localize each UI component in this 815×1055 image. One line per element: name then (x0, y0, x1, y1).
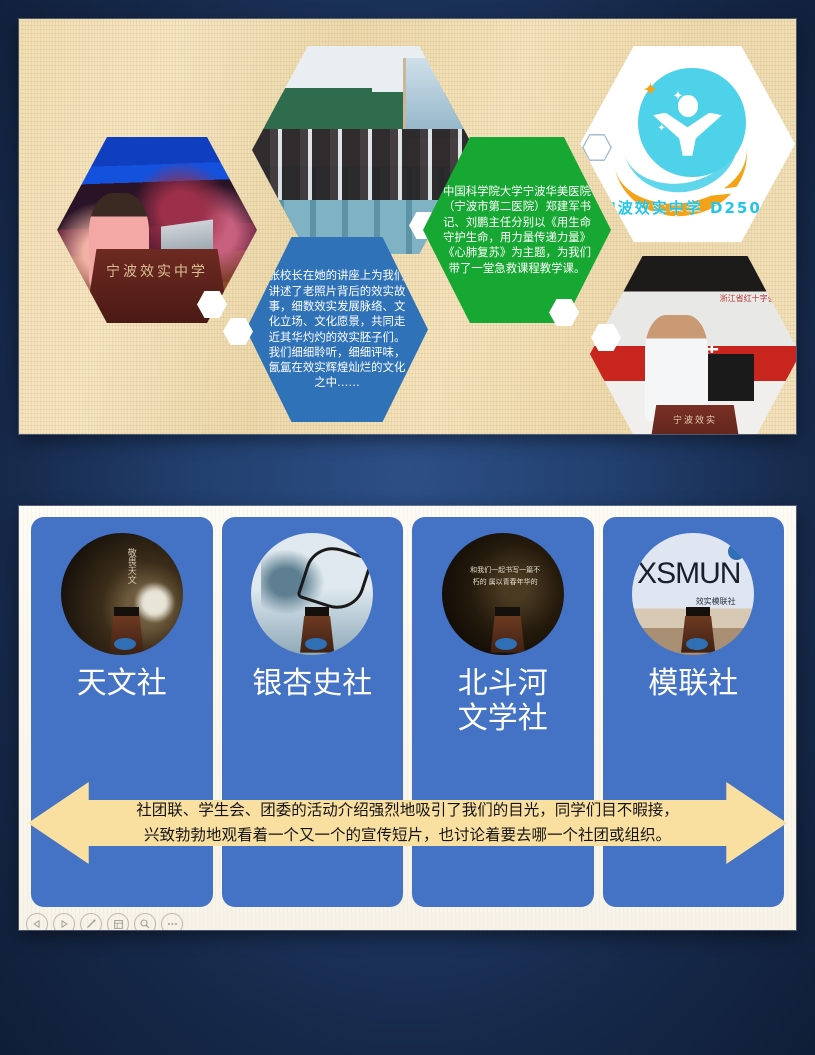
zoom-in-icon[interactable] (134, 913, 156, 930)
mun-sub-text: 效实模联社 (696, 596, 736, 607)
monitor-shape (708, 354, 754, 401)
logo-wave-tail (701, 125, 769, 196)
slide-top-collage[interactable]: 宁波效实中学 张校长在她的讲座上为我们讲述了老照片背后的效实故事，细数效实发展脉… (19, 19, 796, 434)
club-name-label: 银杏史社 (222, 667, 404, 702)
school-logo-hexagon: ✦ ✦ ✦ 宁波效实中学 D2507 (580, 46, 795, 242)
logo-star-icon-1: ✦ (642, 81, 658, 100)
logo-star-icon-2: ✦ (672, 89, 683, 102)
logo-caption-text: 宁波效实中学 D2507 (580, 197, 795, 218)
photo-hexagon-teacher-lecture: 宁波效实中学 (57, 137, 257, 323)
ginkgo-history-club-photo (251, 533, 373, 655)
decor-hexagon-dot-3 (223, 318, 253, 345)
lectern-shape: 宁波效实 (649, 405, 741, 434)
beidou-literature-club-photo: 和我们一起书写一篇不朽的 属以青春年华的 (442, 533, 564, 655)
arrow-banner-line-2: 兴致勃勃地观看着一个又一个的宣传短片，也讨论着要去哪一个社团或组织。 (100, 823, 715, 848)
blackboard-shape (265, 88, 372, 130)
podium-school-text: 宁波效实中学 (85, 261, 229, 281)
previous-slide-icon[interactable] (26, 913, 48, 930)
photo-caption-text: 和我们一起书写一篇不朽的 属以青春年华的 (469, 565, 542, 589)
text-hexagon-blue-principal-lecture: 张校长在她的讲座上为我们讲述了老照片背后的效实故事，细数效实发展脉络、文化立场、… (246, 237, 428, 422)
astronomy-club-photo: 敬畏天文 (61, 533, 183, 655)
photo-hexagon-cpr-speaker: 浙江省红十字会应急 肺复苏 宁波效实 (590, 256, 796, 434)
logo-star-icon-3: ✦ (657, 124, 665, 134)
pen-tool-icon[interactable] (80, 913, 102, 930)
club-name-label: 模联社 (603, 667, 785, 702)
slide-bottom-clubs[interactable]: 敬畏天文 天文社 银杏史社 和我们一起书写一篇不朽的 属以青春年华的 (19, 506, 796, 930)
summary-arrow-banner: 社团联、学生会、团委的活动介绍强烈地吸引了我们的目光，同学们目不暇接， 兴致勃勃… (28, 782, 787, 864)
podium-emblem (305, 638, 327, 650)
all-slides-grid-icon[interactable] (107, 913, 129, 930)
photo-corner-text: 浙江省红十字会应急 (720, 293, 792, 304)
lectern-text: 宁波效实 (649, 413, 741, 426)
moon-shape (134, 582, 175, 623)
next-slide-icon[interactable] (53, 913, 75, 930)
photo-caption-vertical: 敬畏天文 (124, 548, 138, 584)
club-name-label: 天文社 (31, 667, 213, 702)
speaker-figure (645, 315, 708, 421)
more-options-icon[interactable] (161, 913, 183, 930)
podium-emblem (686, 638, 708, 650)
mun-club-photo: XSMUN 效实模联社 (632, 533, 754, 655)
club-name-label: 北斗河文学社 (412, 667, 594, 737)
window-shape (403, 58, 468, 137)
arrow-banner-line-1: 社团联、学生会、团委的活动介绍强烈地吸引了我们的目光，同学们目不暇接， (100, 798, 715, 823)
students-shape (252, 129, 475, 200)
presentation-toolbar[interactable] (26, 913, 183, 930)
arrow-banner-text: 社团联、学生会、团委的活动介绍强烈地吸引了我们的目光，同学们目不暇接， 兴致勃勃… (100, 782, 715, 864)
mun-logo-text: XSMUN (637, 557, 740, 591)
